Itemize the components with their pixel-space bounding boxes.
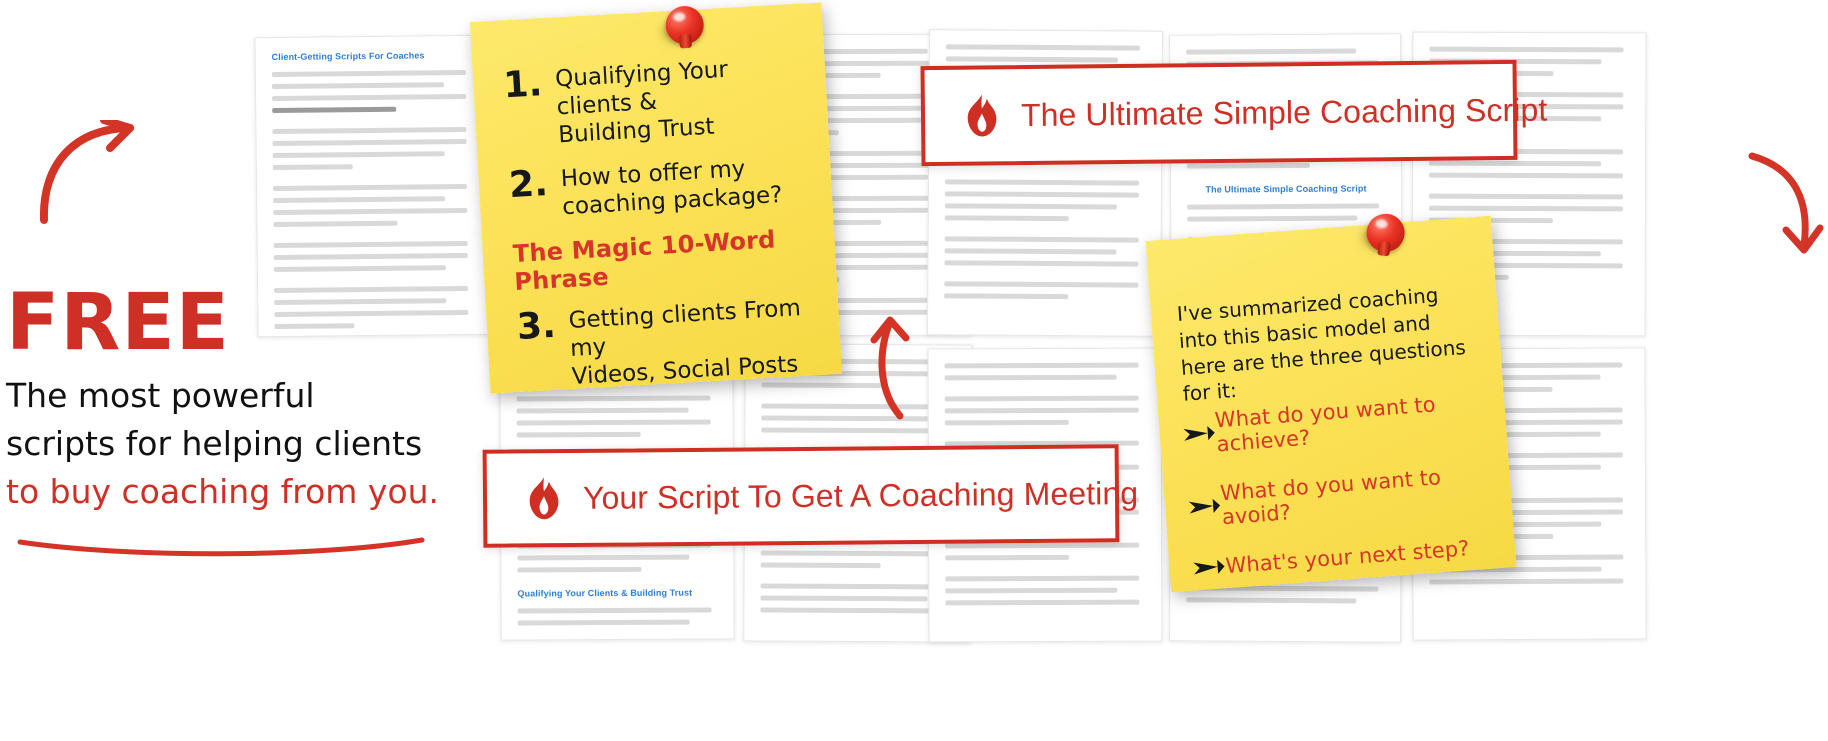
banner-ultimate-simple-coaching-script[interactable]: The Ultimate Simple Coaching Script: [920, 60, 1517, 166]
banner-your-script-to-get-a-coaching-meeting[interactable]: Your Script To Get A Coaching Meeting: [483, 444, 1120, 548]
headline-line-2: scripts for helping clients: [6, 420, 476, 468]
pushpin-icon: [659, 3, 716, 60]
arrow-bullet-icon: [1191, 556, 1226, 578]
page-title: FREE: [6, 288, 476, 360]
headline-block: FREE The most powerful scripts for helpi…: [6, 288, 476, 516]
curved-arrow-right-edge-icon: [1748, 150, 1828, 270]
list-item: What do you want to avoid?: [1185, 461, 1500, 532]
magic-phrase-callout: The Magic 10-Word Phrase: [512, 223, 819, 296]
list-item-label: How to offer my coaching package?: [560, 153, 783, 221]
headline-subtitle: The most powerful scripts for helping cl…: [6, 372, 476, 517]
flame-icon: [527, 476, 561, 520]
list-item-label: Qualifying Your clients & Building Trust: [554, 51, 810, 149]
list-item-number: 1.: [503, 65, 557, 104]
document-heading: Client-Getting Scripts For Coaches: [272, 50, 472, 62]
sticky-note-right[interactable]: I've summarized coaching into this basic…: [1146, 216, 1517, 592]
poster-canvas: Client-Getting Scripts For Coaches: [0, 0, 1828, 741]
list-item: 2. How to offer my coaching package?: [508, 151, 815, 224]
sticky-right-intro: I've summarized coaching into this basic…: [1176, 279, 1483, 408]
arrow-bullet-icon: [1186, 495, 1221, 517]
headline-line-1: The most powerful: [6, 372, 476, 420]
sticky-right-question-list: What do you want to achieve? What do you…: [1180, 388, 1505, 605]
list-item-label: Getting clients From my Videos, Social P…: [568, 293, 824, 391]
banner-label: The Ultimate Simple Coaching Script: [1021, 91, 1548, 134]
sticky-note-left[interactable]: 1. Qualifying Your clients & Building Tr…: [470, 2, 842, 393]
list-item: 3. Getting clients From my Videos, Socia…: [516, 293, 824, 394]
curved-arrow-up-left-icon: [20, 120, 150, 260]
question-label: What's your next step?: [1225, 536, 1471, 578]
pushpin-icon: [1357, 209, 1416, 268]
red-underline-swoosh-icon: [16, 536, 426, 558]
flame-icon: [965, 93, 999, 137]
list-item-number: 2.: [508, 165, 562, 204]
list-item: What's your next step?: [1191, 534, 1504, 581]
document-heading: Qualifying Your Clients & Building Trust: [517, 587, 717, 598]
document-heading: The Ultimate Simple Coaching Script: [1187, 183, 1385, 194]
headline-line-3: to buy coaching from you.: [6, 468, 476, 516]
arrow-bullet-icon: [1181, 423, 1216, 445]
question-label: What do you want to avoid?: [1219, 461, 1500, 529]
banner-label: Your Script To Get A Coaching Meeting: [583, 475, 1138, 517]
list-item-number: 3.: [516, 307, 570, 346]
sticky-left-list: 1. Qualifying Your clients & Building Tr…: [503, 51, 826, 410]
list-item: 1. Qualifying Your clients & Building Tr…: [503, 51, 811, 152]
